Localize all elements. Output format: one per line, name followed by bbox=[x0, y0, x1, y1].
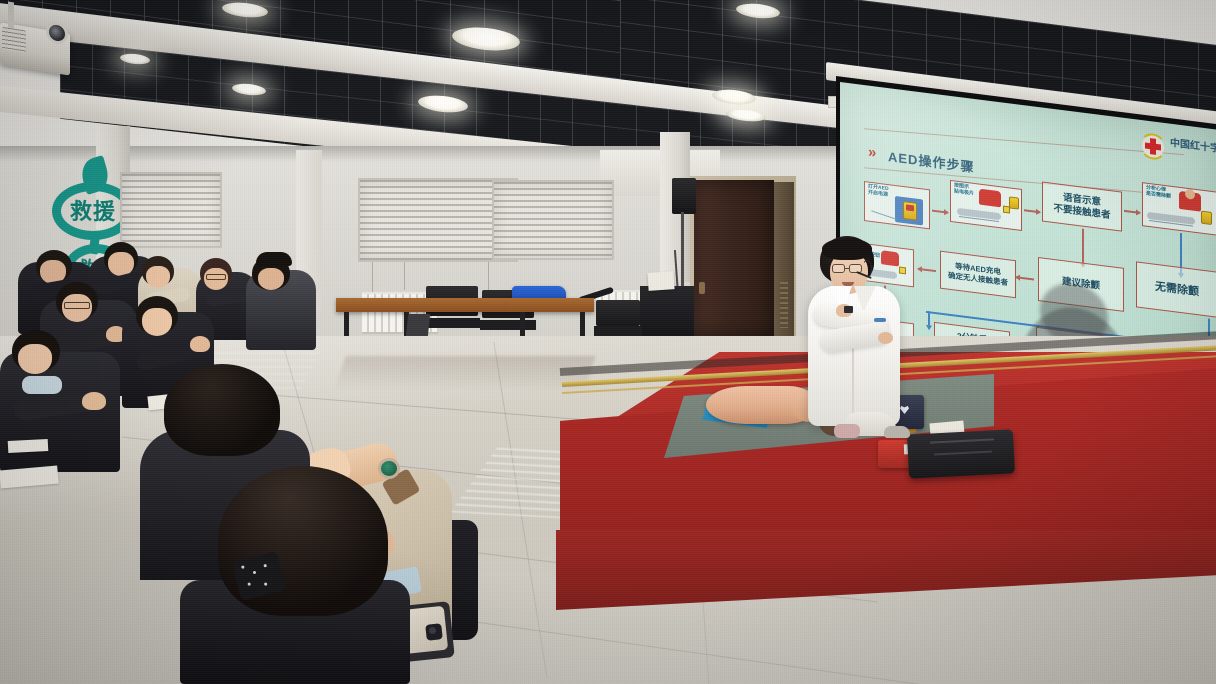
coat-logo bbox=[874, 318, 886, 322]
attendee-face bbox=[258, 268, 284, 290]
blind-cord[interactable] bbox=[404, 262, 405, 290]
attendee-face bbox=[18, 344, 52, 374]
attendee-face bbox=[146, 266, 170, 288]
chair bbox=[596, 300, 640, 326]
illustration-caption: 按图示贴电极片 bbox=[954, 183, 974, 197]
slide-illustration-b1: 打开AED开启电源 bbox=[864, 181, 930, 229]
slide-illustration-b4: 分析心律是否需除颤 bbox=[1142, 182, 1216, 236]
flow-arrow-down bbox=[1082, 229, 1084, 263]
wooden-table bbox=[336, 298, 594, 312]
chair-seat bbox=[424, 318, 480, 328]
camera-lens-icon bbox=[429, 627, 436, 634]
wall-vent bbox=[780, 282, 788, 328]
floor-reflection bbox=[334, 356, 595, 390]
chevron-right-icon: » bbox=[868, 144, 873, 162]
projector-mount bbox=[8, 2, 14, 29]
attendee-scarf bbox=[22, 376, 62, 394]
flow-arrow bbox=[932, 210, 948, 214]
slide-box-b6: 无需除颤 bbox=[1136, 261, 1216, 317]
av-equipment-rack bbox=[640, 286, 694, 340]
eyeglasses-bridge bbox=[845, 268, 849, 269]
attendee-face bbox=[142, 308, 172, 336]
decal-text-rescue: 救援 bbox=[62, 194, 124, 226]
attendee-hand bbox=[190, 336, 210, 352]
slide-illustration-b2: 按图示贴电极片 bbox=[950, 180, 1022, 231]
av-document bbox=[647, 271, 674, 291]
room-door[interactable] bbox=[694, 180, 774, 336]
chair-seat bbox=[480, 320, 536, 330]
aed-carry-bag bbox=[907, 429, 1015, 478]
instructor-hair-fringe bbox=[822, 238, 872, 260]
logo-text-cn: 中国红十字会 bbox=[1170, 139, 1216, 157]
window-blinds bbox=[120, 172, 222, 248]
projector-vent bbox=[2, 27, 26, 53]
attendee-hand bbox=[82, 392, 106, 410]
training-room-photo: 救援 救护 » AED操作步骤 bbox=[0, 0, 1216, 684]
attendee-cap bbox=[256, 252, 292, 266]
window-blinds bbox=[492, 180, 614, 260]
instructor bbox=[800, 236, 910, 436]
red-cross-logo: 中国红十字会 bbox=[1140, 130, 1214, 169]
flow-arrow bbox=[1024, 209, 1040, 213]
flow-arrow-down-blue bbox=[928, 311, 930, 325]
eyeglasses-icon bbox=[206, 274, 226, 280]
handout-paper bbox=[8, 439, 49, 453]
illustration-caption: 分析心律是否需除颤 bbox=[1146, 186, 1171, 200]
eyeglasses-icon bbox=[832, 264, 845, 273]
smartwatch[interactable] bbox=[378, 458, 400, 479]
attendee-head-foreground bbox=[164, 364, 280, 456]
slide-box-b7: 等待AED充电确定无人接触患者 bbox=[940, 251, 1016, 299]
door-handle[interactable] bbox=[699, 282, 705, 294]
instructor-badge bbox=[844, 306, 853, 313]
blind-cord[interactable] bbox=[372, 262, 373, 296]
eyeglasses-icon bbox=[64, 302, 90, 309]
instructor-shoe bbox=[884, 426, 910, 438]
flow-arrow-left bbox=[1016, 276, 1034, 280]
instructor-trousers bbox=[834, 424, 860, 438]
flow-arrow-left bbox=[918, 268, 936, 272]
pa-speaker bbox=[672, 178, 696, 214]
flow-arrow bbox=[1124, 210, 1140, 214]
instructor-hand bbox=[878, 332, 893, 344]
chair-seat bbox=[594, 326, 642, 336]
illustration-caption: 打开AED开启电源 bbox=[868, 185, 889, 199]
